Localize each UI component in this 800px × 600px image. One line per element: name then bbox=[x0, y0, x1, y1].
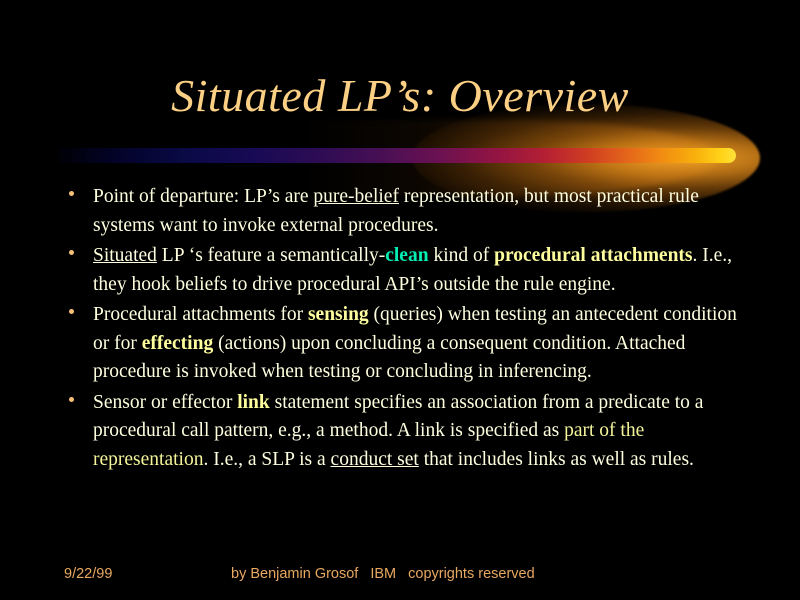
bullet-item-point-of-departure: Point of departure: LP’s are pure-belief… bbox=[60, 183, 750, 240]
bullet-item-link-statement: Sensor or effector link statement specif… bbox=[60, 389, 750, 475]
footer-company: IBM bbox=[370, 566, 396, 582]
bullet-text: Point of departure: LP’s are pure-belief… bbox=[93, 183, 750, 240]
slide-body-bullet-list: Point of departure: LP’s are pure-belief… bbox=[60, 183, 750, 476]
bullet-dot-icon bbox=[69, 250, 74, 255]
slide-footer: 9/22/99 by Benjamin GrosofIBMcopyrights … bbox=[0, 563, 800, 585]
bullet-text: Sensor or effector link statement specif… bbox=[93, 389, 750, 475]
bullet-item-situated-lp: Situated LP ‘s feature a semantically-cl… bbox=[60, 242, 750, 299]
footer-author: by Benjamin Grosof bbox=[231, 566, 358, 582]
bullet-dot-icon bbox=[69, 191, 74, 196]
bullet-dot-icon bbox=[69, 397, 74, 402]
bullet-dot-icon bbox=[69, 309, 74, 314]
footer-rights: copyrights reserved bbox=[408, 566, 535, 582]
bullet-item-sensing-effecting: Procedural attachments for sensing (quer… bbox=[60, 301, 750, 387]
footer-credit: by Benjamin GrosofIBMcopyrights reserved bbox=[231, 563, 535, 585]
footer-date: 9/22/99 bbox=[64, 563, 112, 585]
gradient-rule-bar-decoration bbox=[58, 148, 736, 163]
bullet-text: Situated LP ‘s feature a semantically-cl… bbox=[93, 242, 750, 299]
presentation-slide: Situated LP’s: Overview Point of departu… bbox=[0, 0, 800, 600]
bullet-text: Procedural attachments for sensing (quer… bbox=[93, 301, 750, 387]
slide-title: Situated LP’s: Overview bbox=[0, 68, 800, 124]
